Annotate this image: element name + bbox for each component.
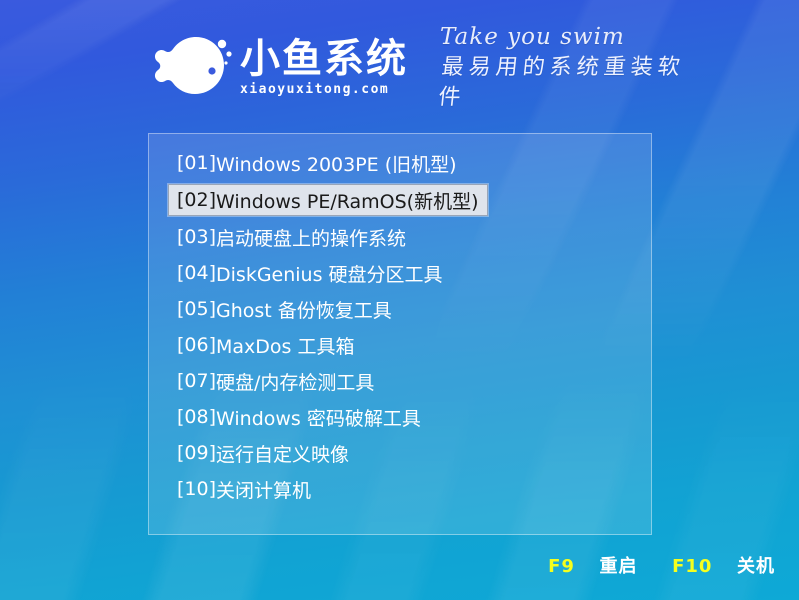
boot-menu-item-label: Ghost 备份恢复工具 xyxy=(216,296,392,323)
brand-domain: xiaoyuxitong.com xyxy=(240,82,408,98)
boot-menu-item[interactable]: [06]MaxDos 工具箱 xyxy=(169,330,363,360)
boot-menu-item-index: [02] xyxy=(177,189,216,211)
boot-menu-item-index: [09] xyxy=(177,442,216,464)
boot-menu-item[interactable]: [02]Windows PE/RamOS(新机型) xyxy=(168,184,488,216)
key-f9[interactable]: F9 xyxy=(548,556,575,577)
label-shutdown: 关机 xyxy=(737,556,775,577)
boot-menu-item-index: [05] xyxy=(177,298,216,320)
brand-name: 小鱼系统 xyxy=(240,37,408,81)
boot-menu-item-index: [06] xyxy=(177,334,216,356)
boot-menu-item-label: Windows 2003PE (旧机型) xyxy=(216,150,457,177)
function-key-hint: F9 重启 F10 关机 xyxy=(548,552,775,578)
boot-menu-item[interactable]: [05]Ghost 备份恢复工具 xyxy=(169,294,400,324)
boot-menu-item[interactable]: [03]启动硬盘上的操作系统 xyxy=(169,222,414,252)
boot-menu-item-label: Windows PE/RamOS(新机型) xyxy=(216,187,479,214)
boot-menu-item-label: 启动硬盘上的操作系统 xyxy=(216,224,406,251)
fish-icon xyxy=(150,31,234,103)
boot-menu-item[interactable]: [04]DiskGenius 硬盘分区工具 xyxy=(169,258,451,288)
key-f10[interactable]: F10 xyxy=(672,556,712,577)
boot-menu-item-label: 关闭计算机 xyxy=(216,476,311,503)
boot-menu-list: [01]Windows 2003PE (旧机型)[02]Windows PE/R… xyxy=(149,148,651,510)
brand-slogan: Take you swim 最易用的系统重装软件 xyxy=(440,21,690,113)
boot-menu-item-index: [03] xyxy=(177,226,216,248)
boot-menu-item-label: 硬盘/内存检测工具 xyxy=(216,368,374,395)
brand-header: 小鱼系统 xiaoyuxitong.com Take you swim 最易用的… xyxy=(150,24,690,110)
boot-menu-item[interactable]: [08]Windows 密码破解工具 xyxy=(169,402,429,432)
boot-menu-item-label: DiskGenius 硬盘分区工具 xyxy=(216,260,443,287)
boot-menu-item-index: [08] xyxy=(177,406,216,428)
boot-menu-item-index: [10] xyxy=(177,478,216,500)
boot-menu-item-index: [07] xyxy=(177,370,216,392)
boot-menu-item-label: Windows 密码破解工具 xyxy=(216,404,421,431)
label-restart: 重启 xyxy=(600,556,638,577)
slogan-chinese: 最易用的系统重装软件 xyxy=(437,53,693,113)
boot-menu-item-label: MaxDos 工具箱 xyxy=(216,332,354,359)
boot-menu-item-index: [01] xyxy=(177,152,216,174)
boot-menu-item[interactable]: [09]运行自定义映像 xyxy=(169,438,357,468)
boot-menu-item[interactable]: [10]关闭计算机 xyxy=(169,474,319,504)
brand-wordmark: 小鱼系统 xiaoyuxitong.com xyxy=(240,37,408,98)
boot-menu-screen: 小鱼系统 xiaoyuxitong.com Take you swim 最易用的… xyxy=(0,0,799,600)
boot-menu-item-label: 运行自定义映像 xyxy=(216,440,349,467)
boot-menu-item[interactable]: [07]硬盘/内存检测工具 xyxy=(169,366,382,396)
slogan-english: Take you swim xyxy=(440,23,690,51)
boot-menu-item[interactable]: [01]Windows 2003PE (旧机型) xyxy=(169,148,465,178)
boot-menu-item-index: [04] xyxy=(177,262,216,284)
boot-menu-panel: [01]Windows 2003PE (旧机型)[02]Windows PE/R… xyxy=(148,133,652,535)
